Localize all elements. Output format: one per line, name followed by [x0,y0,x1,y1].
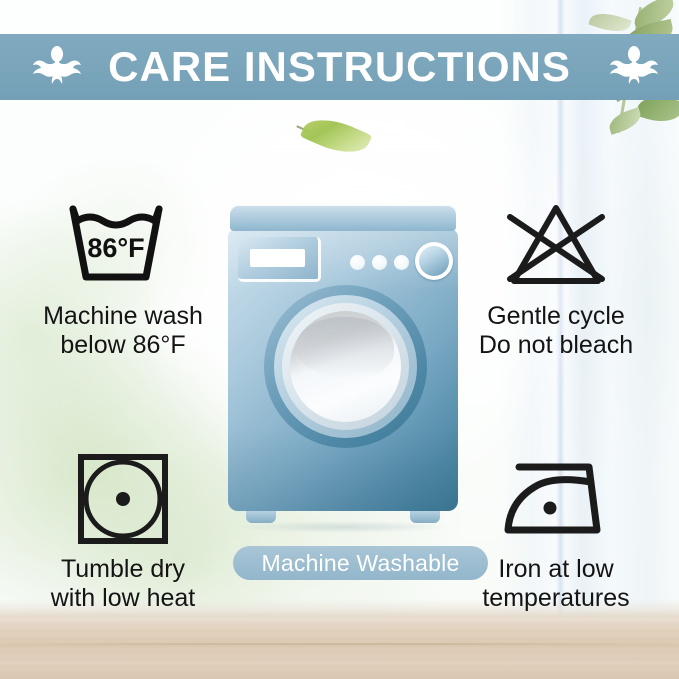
care-symbol-iron-low: Iron at low temperatures [441,443,671,613]
triangle-crossed-out-icon [441,190,671,300]
care-symbol-machine-wash: 86°F Machine wash below 86°F [8,190,238,360]
fleur-de-lis-icon [30,45,84,89]
care-symbol-caption: Gentle cycle Do not bleach [441,302,671,360]
machine-foot [246,509,276,523]
care-symbol-caption: Machine wash below 86°F [8,302,238,360]
machine-top-lid [230,205,456,231]
leaf [606,107,644,135]
washing-machine-illustration [228,205,458,535]
control-button [372,255,387,270]
control-button [350,255,365,270]
care-symbol-caption: Tumble dry with low heat [8,555,238,613]
iron-one-dot-icon [441,443,671,553]
wash-tub-icon: 86°F [8,190,238,300]
care-symbol-tumble-dry: Tumble dry with low heat [8,443,238,613]
machine-washable-badge-label: Machine Washable [262,550,460,577]
wash-temperature-value: 86°F [87,233,144,263]
detergent-drawer-slot [250,249,305,267]
wood-grain-line [0,643,679,645]
wooden-table-surface [0,617,679,679]
control-button [394,255,409,270]
care-instructions-card: CARE INSTRUCTIONS [0,0,679,679]
porthole-glass-reflection [296,317,394,379]
detergent-drawer [238,237,321,282]
header-banner: CARE INSTRUCTIONS [0,34,679,100]
care-symbol-caption: Iron at low temperatures [441,555,671,613]
leaf [588,8,631,37]
page-title: CARE INSTRUCTIONS [102,46,577,88]
machine-foot [410,509,440,523]
care-symbol-do-not-bleach: Gentle cycle Do not bleach [441,190,671,360]
tumble-dry-low-icon [8,443,238,553]
fleur-de-lis-icon [607,45,661,89]
